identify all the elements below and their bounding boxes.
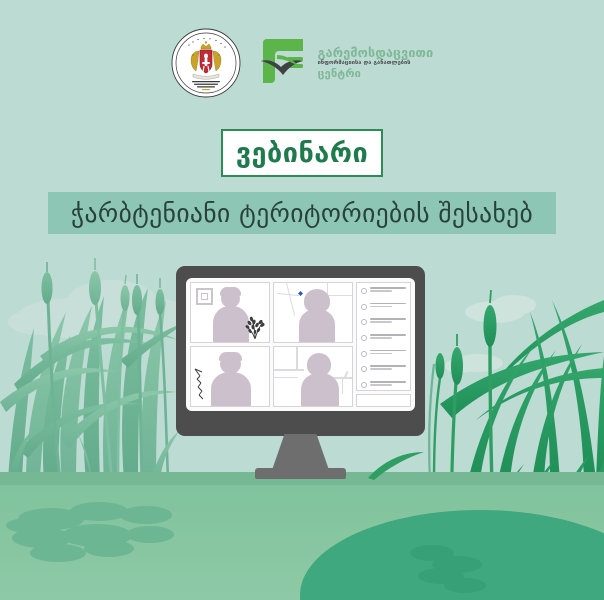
- poster-canvas: გარემოსდაცვითი ინფორმაციისა და განათლები…: [0, 0, 604, 600]
- participant-torso: [211, 372, 251, 407]
- list-item[interactable]: [361, 350, 406, 357]
- list-item[interactable]: [361, 303, 406, 310]
- monitor-chin: [186, 411, 415, 425]
- picture-frame-icon: [196, 288, 213, 305]
- video-conference-grid: [190, 282, 411, 407]
- monitor-stand-neck: [272, 434, 329, 470]
- eiec-logo-line-1: გარემოსდაცვითი: [318, 46, 434, 59]
- wall-corner-line: [286, 283, 296, 316]
- shelf-line-h: [274, 369, 304, 371]
- list-item[interactable]: [361, 318, 406, 325]
- avatar: [361, 366, 367, 372]
- potted-plant-icon: [243, 313, 267, 339]
- monitor-stand-base: [255, 468, 346, 479]
- participant-list[interactable]: [356, 282, 411, 391]
- avatar: [361, 304, 367, 310]
- list-item[interactable]: [361, 365, 406, 372]
- conference-sidebar: [356, 282, 411, 407]
- foreground-leaf-icon: [366, 450, 426, 482]
- video-tiles: [190, 282, 353, 407]
- video-tile-1[interactable]: [190, 282, 270, 343]
- monitor-bezel: [176, 266, 425, 436]
- eiec-logo-line-3: ცენტრი: [318, 68, 434, 80]
- monitor-screen: [186, 278, 415, 411]
- shelf-line-v: [296, 347, 298, 370]
- wall-top-line: [277, 293, 299, 297]
- participant-torso: [299, 309, 335, 343]
- subtitle-wrapper: ჭარბტენიანი ტერიტორიების შესახებ: [0, 190, 604, 238]
- webinar-title-box: ვებინარი: [221, 129, 383, 177]
- video-tile-4[interactable]: [273, 346, 353, 407]
- list-item[interactable]: [361, 334, 406, 341]
- participant-hair: [219, 352, 242, 361]
- wall-decor-icon: [193, 367, 209, 401]
- left-reed-cluster: [0, 258, 192, 482]
- avatar: [361, 382, 367, 388]
- list-item[interactable]: [361, 287, 406, 294]
- georgia-coat-of-arms-icon: [171, 28, 241, 98]
- list-item[interactable]: [361, 381, 406, 388]
- video-tile-2[interactable]: [273, 282, 353, 343]
- lamp-stem: [342, 378, 343, 394]
- participant-torso: [301, 373, 339, 407]
- participant-hair: [220, 287, 241, 296]
- page-subtitle: ჭარბტენიანი ტერიტორიების შესახებ: [71, 199, 533, 229]
- avatar: [361, 351, 367, 357]
- message-input-bar[interactable]: [356, 394, 411, 407]
- shelf-line-h2: [274, 377, 298, 378]
- open-book-logo-mark-icon: [259, 37, 311, 89]
- header-logos: გარემოსდაცვითი ინფორმაციისა და განათლები…: [0, 22, 604, 104]
- avatar: [361, 319, 367, 325]
- wall-right-line: [326, 295, 352, 296]
- desktop-monitor: [176, 266, 425, 481]
- avatar: [361, 335, 367, 341]
- eiec-logo: გარემოსდაცვითი ინფორმაციისა და განათლები…: [259, 37, 434, 89]
- avatar: [361, 288, 367, 294]
- video-tile-3[interactable]: [190, 346, 270, 407]
- page-title: ვებინარი: [236, 138, 368, 169]
